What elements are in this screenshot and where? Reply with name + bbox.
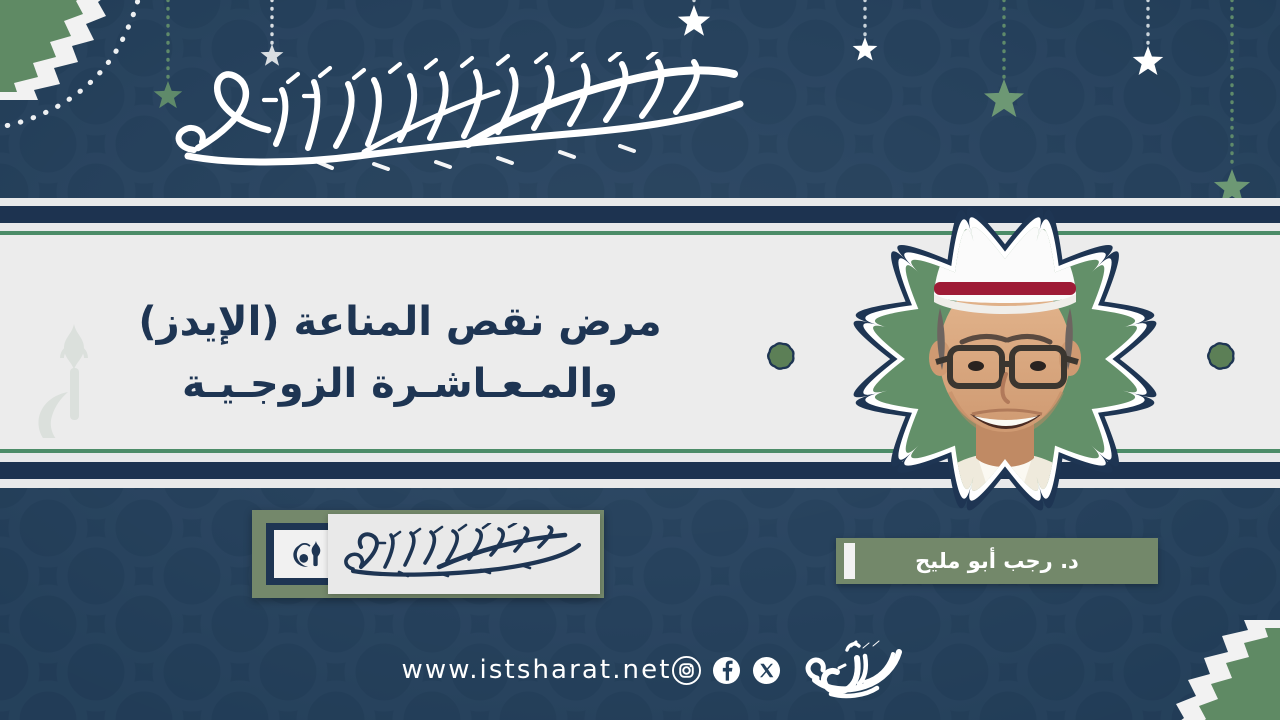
footer-bar: www.istsharat.net xyxy=(0,620,1280,720)
social-links[interactable] xyxy=(672,656,781,685)
instagram-icon[interactable] xyxy=(672,656,701,685)
scallop-dot-left xyxy=(762,337,800,375)
website-url[interactable]: www.istsharat.net xyxy=(401,655,671,685)
program-badge-title-plate xyxy=(328,514,600,594)
facebook-icon[interactable] xyxy=(712,656,741,685)
header-calligraphy xyxy=(168,52,768,172)
speaker-portrait xyxy=(822,176,1188,542)
al-mujtama-calligraphy-logo[interactable] xyxy=(803,638,907,702)
program-title-calligraphy xyxy=(339,523,589,585)
slide-title: مرض نقص المناعة (الإيدز) والمـعـاشـرة ال… xyxy=(70,258,730,448)
title-line-2: والمـعـاشـرة الزوجـيـة xyxy=(182,353,618,415)
scallop-dot-right xyxy=(1202,337,1240,375)
speaker-name: د. رجب أبو مليح xyxy=(915,549,1079,573)
program-badge xyxy=(252,510,604,598)
speaker-nameplate: د. رجب أبو مليح xyxy=(836,538,1158,584)
nameplate-accent-bar xyxy=(844,543,855,579)
x-twitter-icon[interactable] xyxy=(752,656,781,685)
title-line-1: مرض نقص المناعة (الإيدز) xyxy=(138,291,661,353)
presentation-slide: مرض نقص المناعة (الإيدز) والمـعـاشـرة ال… xyxy=(0,0,1280,720)
